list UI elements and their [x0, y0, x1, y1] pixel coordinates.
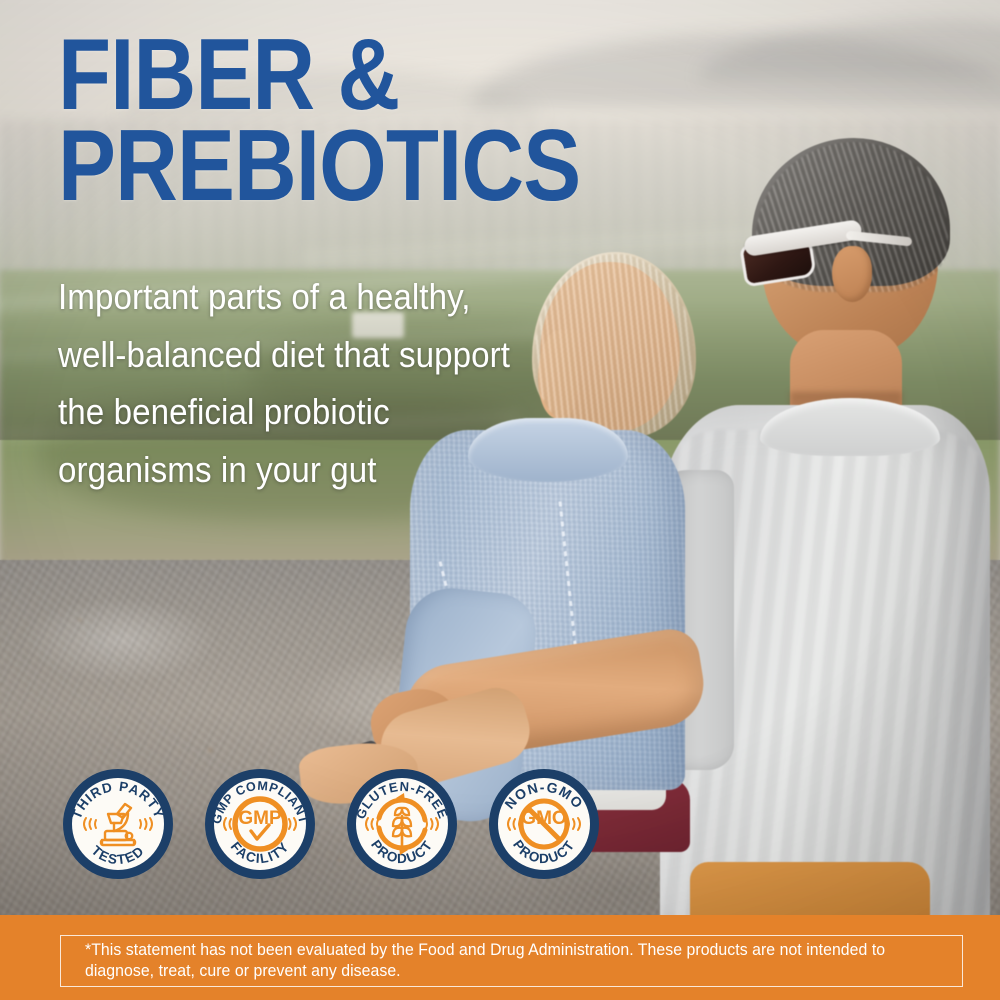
- badge-non-gmo-product: NON-GMO PRODUCT GMO: [488, 768, 600, 880]
- promotional-poster: FIBER & PREBIOTICS Important parts of a …: [0, 0, 1000, 1000]
- description-text: Important parts of a healthy, well-balan…: [58, 268, 536, 498]
- badge-center-text: GMP: [238, 808, 282, 829]
- certification-badge-row: THIRD PARTY TESTED: [62, 768, 632, 884]
- disclaimer-bar: *This statement has not been evaluated b…: [0, 915, 1000, 1000]
- fda-disclaimer-text: *This statement has not been evaluated b…: [85, 940, 904, 983]
- badge-gmp-compliant-facility: GMP COMPLIANT FACILITY GMP: [204, 768, 316, 880]
- badge-third-party-tested: THIRD PARTY TESTED: [62, 768, 174, 880]
- man-ear: [832, 246, 872, 302]
- badge-gluten-free-product: GLUTEN-FREE PRODUCT: [346, 768, 458, 880]
- page-title: FIBER & PREBIOTICS: [58, 30, 591, 212]
- disclaimer-box: *This statement has not been evaluated b…: [60, 935, 963, 987]
